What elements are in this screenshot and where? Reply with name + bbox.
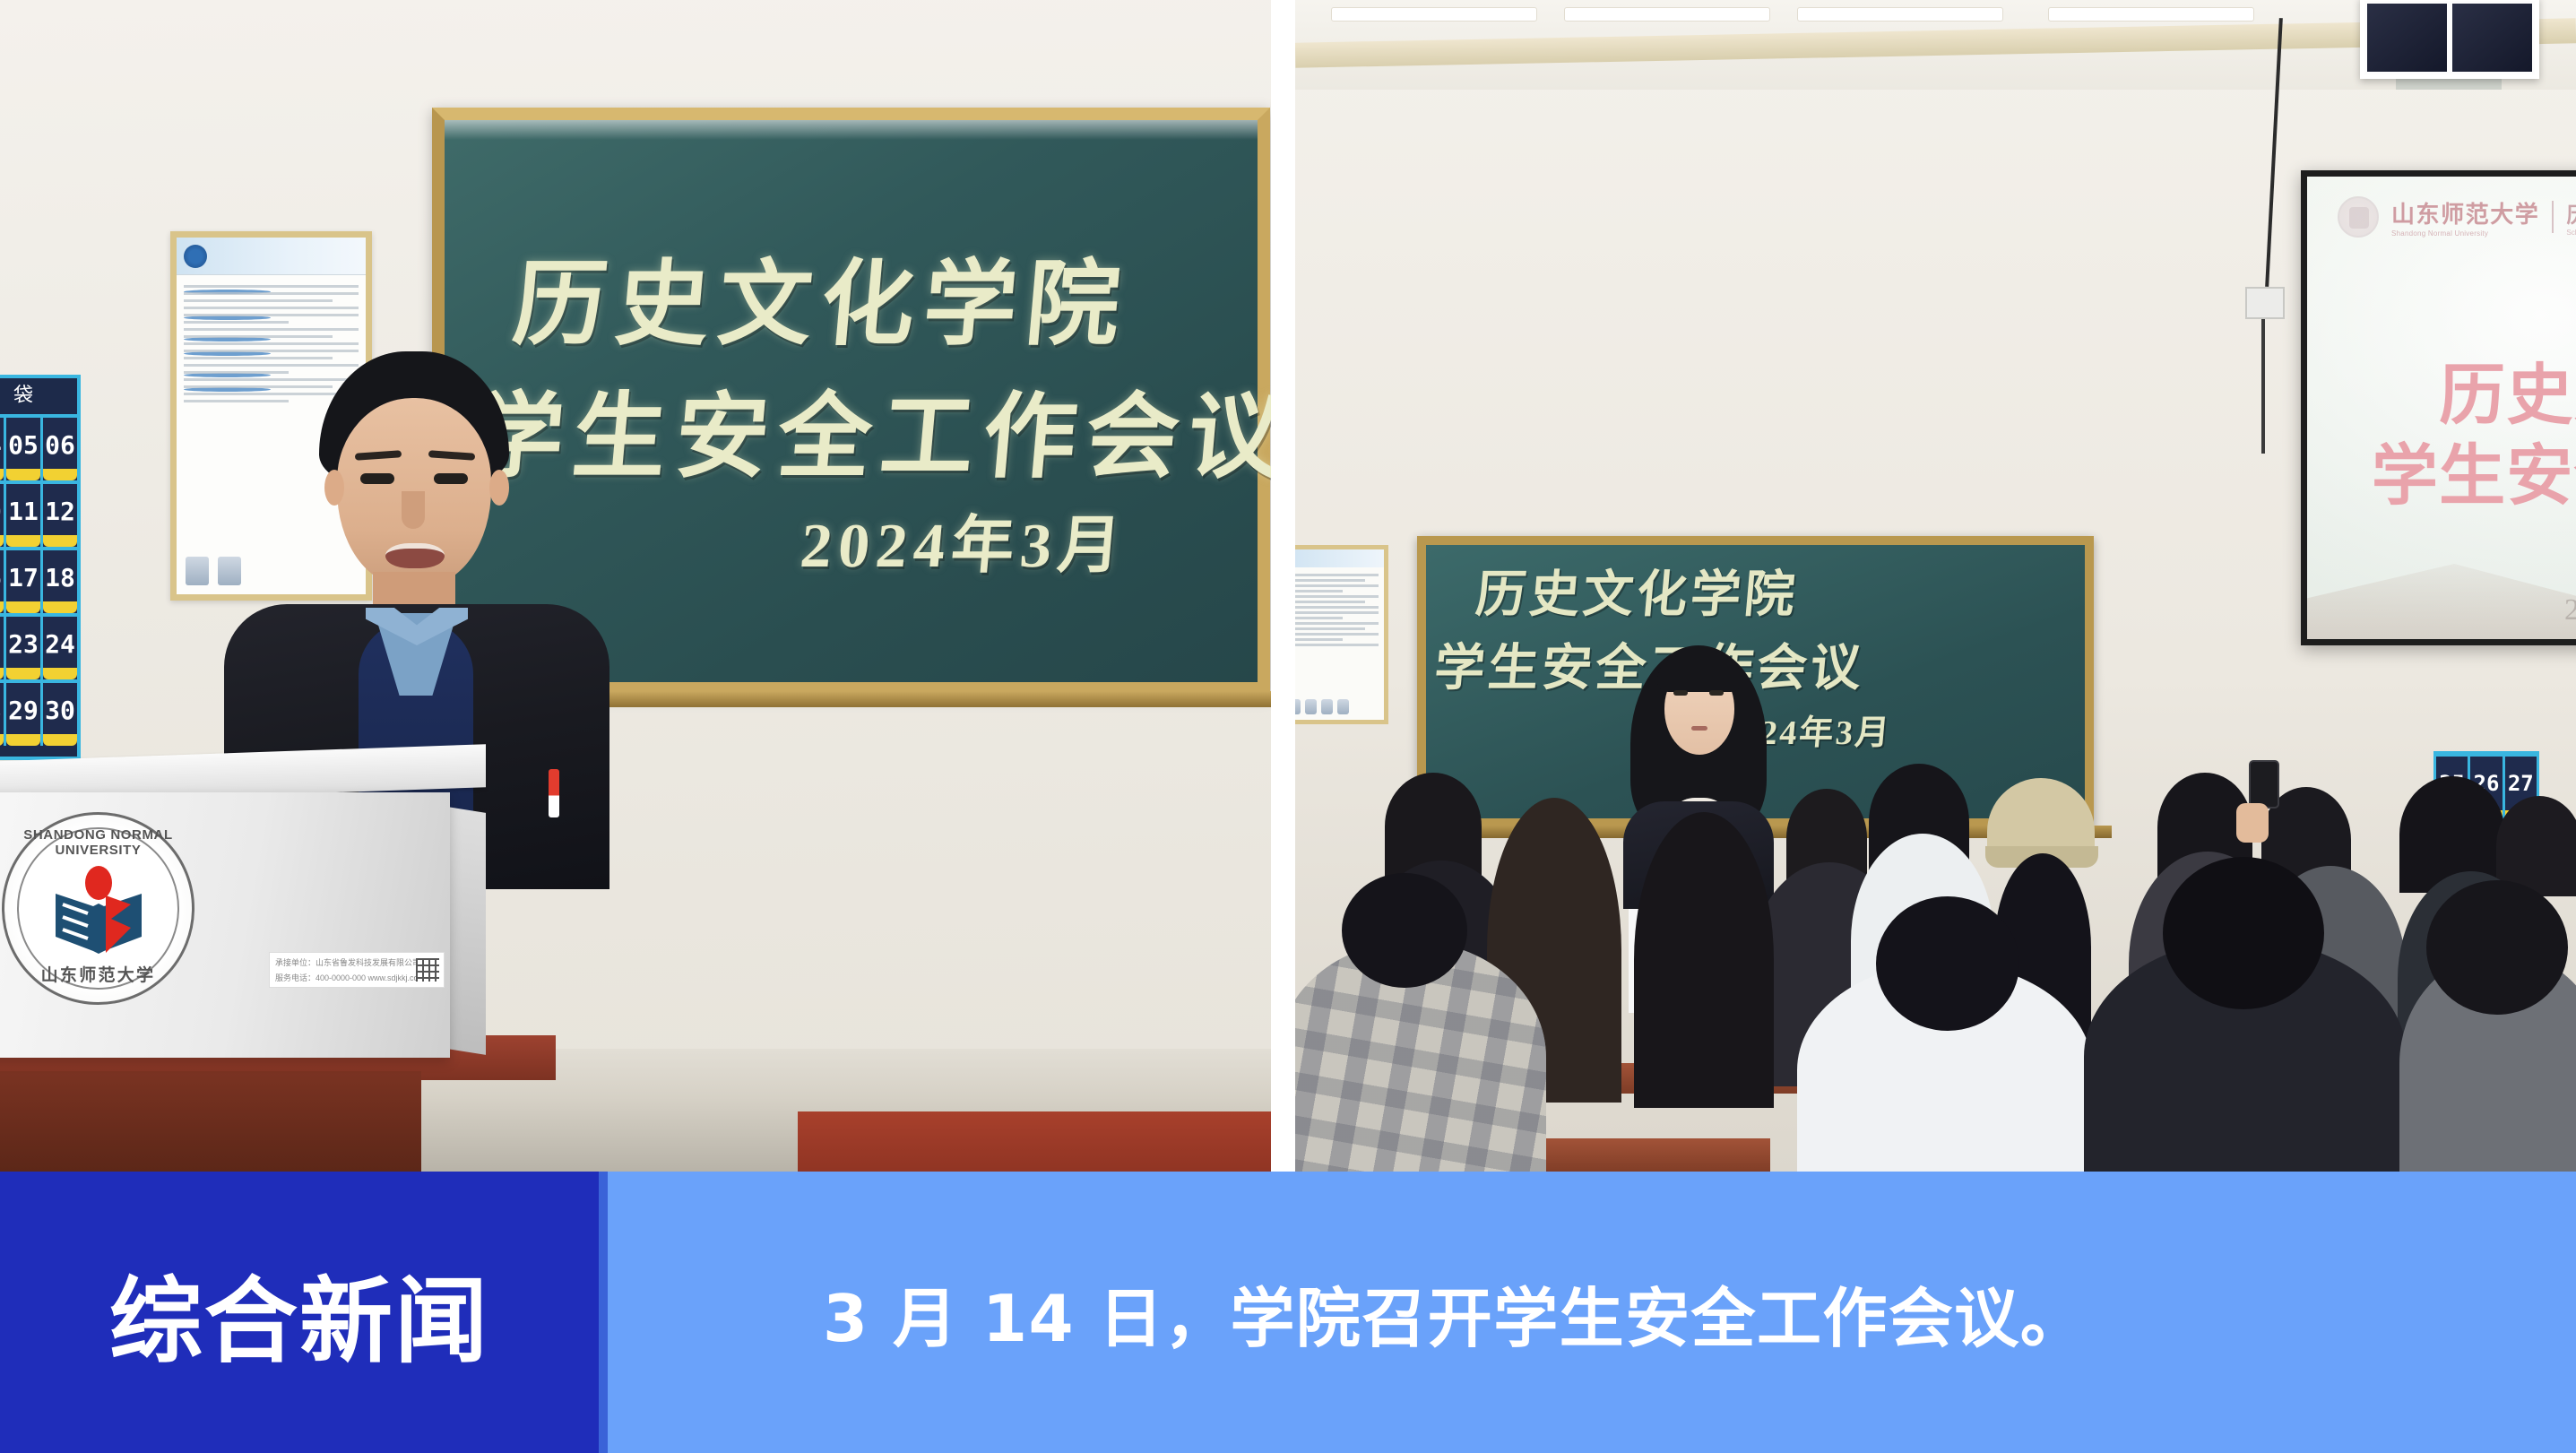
news-photo-card: 历史文化学院 学生安全工作会议 2024年3月	[0, 0, 2576, 1453]
pocket-number: 17	[6, 563, 40, 592]
pocket: 11	[6, 484, 43, 547]
hanging-cable-lower	[2261, 319, 2265, 454]
speaker-ear-right	[489, 470, 509, 506]
presenter-fringe	[1657, 654, 1742, 692]
photo-strip: 历史文化学院 学生安全工作会议 2024年3月	[0, 0, 2576, 1172]
pocket: 29	[6, 683, 43, 746]
audience-front-head	[2426, 880, 2568, 1015]
blackboard-line-3: 2024年3月	[798, 495, 1132, 585]
pocket: 10	[0, 484, 6, 547]
right-photo[interactable]: 山东师范大学 Shandong Normal University 历史文化学院…	[1295, 0, 2576, 1172]
pocket: 18	[43, 550, 77, 613]
pocket-number: 11	[6, 497, 40, 526]
floor	[798, 1111, 1271, 1172]
speaker-mouth	[385, 543, 445, 568]
category-badge-label: 综合新闻	[109, 1245, 489, 1380]
pocket-number: 24	[43, 629, 77, 659]
speaker-ear-left	[324, 470, 344, 506]
pocket-number: 06	[43, 430, 77, 460]
pocket: 28	[0, 683, 6, 746]
audience-front-head	[2163, 857, 2324, 1009]
audience-front-head	[1876, 896, 2019, 1031]
seal-chinese-text: 山东师范大学	[4, 962, 192, 986]
pocket-number: 22	[0, 629, 4, 659]
ceiling-light	[1564, 7, 1770, 22]
slide-title: 历史文化学院 学生安全工作会议	[2307, 356, 2576, 518]
pocket-row: 22 23 24	[0, 613, 77, 679]
raised-hand	[2236, 803, 2269, 843]
blackboard-line-1: 历史文化学院	[508, 228, 1136, 363]
university-seal: SHANDONG NORMAL UNIVERSITY 山东师范大学	[2, 812, 194, 1005]
pocket: 16	[0, 550, 6, 613]
ceiling-light	[1331, 7, 1537, 22]
side-desk-front	[0, 1071, 421, 1172]
caption-text-area: 3 月 14 日，学院召开学生安全工作会议。	[608, 1172, 2576, 1453]
category-badge[interactable]: 综合新闻	[0, 1172, 599, 1453]
pocket: 23	[6, 617, 43, 679]
slide-university-name: 山东师范大学	[2391, 196, 2539, 229]
caption-bar: 综合新闻 3 月 14 日，学院召开学生安全工作会议。	[0, 1172, 2576, 1453]
presenter-eye-left	[1673, 690, 1688, 696]
pocket-number: 04	[0, 430, 4, 460]
university-emblem-icon	[47, 865, 151, 958]
pocket-organizer-title: 袋	[0, 378, 77, 414]
presenter-eye-right	[1709, 690, 1724, 696]
qr-code-icon	[416, 958, 439, 982]
slide-department-name: 历史文化学院	[2566, 197, 2576, 229]
slide-title-line-1: 历史文化学院	[2307, 356, 2576, 437]
badge-divider	[599, 1172, 608, 1453]
pocket-number: 16	[0, 563, 4, 592]
speaker-nose	[402, 491, 425, 529]
poster-seal-icon	[184, 245, 207, 268]
phone-pocket-organizer: 袋 04 05 06 10 11 12 16 17 18 22	[0, 375, 81, 760]
pocket-row: 10 11 12	[0, 480, 77, 547]
raised-phone	[2249, 760, 2279, 809]
speaker-eye-left	[360, 473, 394, 484]
projector-equipment-box	[2360, 0, 2539, 79]
presenter-mouth	[1691, 726, 1707, 731]
audience-long-hair	[1634, 812, 1774, 1108]
pocket-number: 30	[43, 696, 77, 725]
poster-portraits-right	[1295, 699, 1349, 714]
caption-text: 3 月 14 日，学院召开学生安全工作会议。	[823, 1266, 2086, 1360]
left-photo[interactable]: 历史文化学院 学生安全工作会议 2024年3月	[0, 0, 1271, 1172]
podium-info-plate: 承接单位：山东省鲁发科技发展有限公司 服务电话：400-0000-000 www…	[269, 952, 445, 988]
ceiling-light	[2048, 7, 2254, 22]
pocket: 06	[43, 418, 77, 480]
pocket-number: 23	[6, 629, 40, 659]
pocket-row: 04 05 06	[0, 414, 77, 480]
wall-junction-box	[2245, 287, 2285, 319]
projection-screen: 山东师范大学 Shandong Normal University 历史文化学院…	[2301, 170, 2576, 645]
slide-date: 2024年3月	[2307, 584, 2576, 628]
seal-english-text: SHANDONG NORMAL UNIVERSITY	[4, 827, 192, 858]
speaker-eye-right	[434, 473, 468, 484]
poster-header	[177, 238, 366, 275]
pocket-number: 18	[43, 563, 77, 592]
slide-header: 山东师范大学 Shandong Normal University 历史文化学院…	[2338, 196, 2576, 238]
pocket-number: 05	[6, 430, 40, 460]
slide-university-name-en: Shandong Normal University	[2391, 229, 2539, 238]
pocket-row: 16 17 18	[0, 547, 77, 613]
pocket: 24	[43, 617, 77, 679]
podium: SHANDONG NORMAL UNIVERSITY 山东师范大学	[0, 753, 486, 1058]
slide-title-line-2: 学生安全工作会议	[2307, 437, 2576, 517]
pocket: 22	[0, 617, 6, 679]
projector-mount-arm	[2396, 77, 2502, 90]
pocket-number: 29	[6, 696, 40, 725]
pen-icon	[549, 769, 559, 817]
pocket: 17	[6, 550, 43, 613]
pocket: 05	[6, 418, 43, 480]
wall-poster-right	[1295, 545, 1388, 724]
audience-front-head	[1342, 873, 1467, 988]
pocket-number: 12	[43, 497, 77, 526]
pocket-number: 27	[2505, 771, 2537, 796]
pocket-number: 10	[0, 497, 4, 526]
ceiling-light	[1797, 7, 2003, 22]
pocket: 12	[43, 484, 77, 547]
slide-department-name-en: School of History and Culture	[2566, 229, 2576, 237]
blackboard-right-line-1: 历史文化学院	[1473, 554, 1802, 627]
pocket-number: 28	[0, 696, 4, 725]
poster-header-right	[1295, 549, 1384, 567]
pocket-row: 28 29 30	[0, 679, 77, 746]
slide-header-divider	[2552, 201, 2554, 233]
university-logo-icon	[2338, 196, 2379, 238]
pocket: 30	[43, 683, 77, 746]
pocket: 04	[0, 418, 6, 480]
podium-front: SHANDONG NORMAL UNIVERSITY 山东师范大学	[0, 792, 450, 1058]
